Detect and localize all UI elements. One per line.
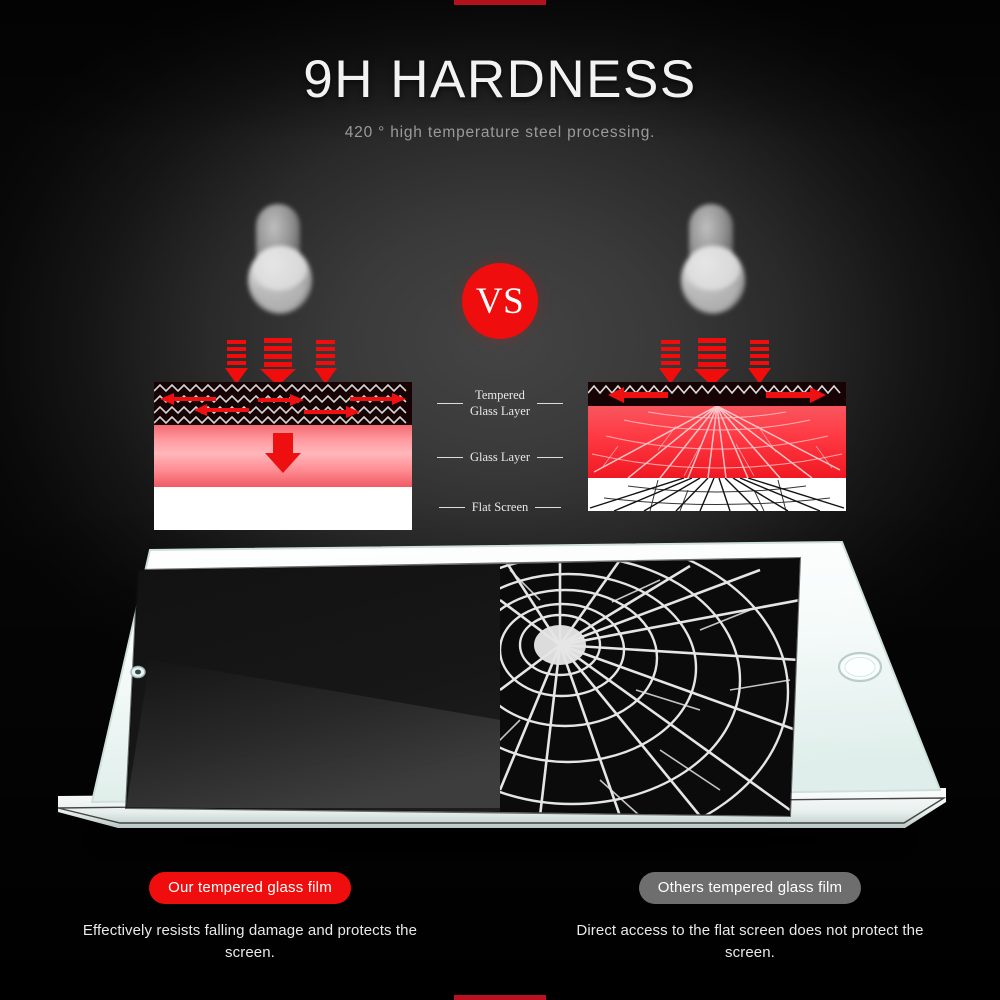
- impact-arrows-right: [638, 338, 798, 386]
- glass-layer-others: [588, 406, 846, 478]
- caption-ours: Our tempered glass film Effectively resi…: [0, 872, 500, 964]
- glass-layer-ours: [154, 425, 412, 487]
- tablet-illustration: [0, 540, 1000, 860]
- leader-line-right: [535, 507, 561, 508]
- legend-tempered-line2: Glass Layer: [470, 404, 530, 418]
- bottom-accent-strip: [454, 995, 546, 1000]
- flat-screen-layer-ours: [154, 487, 412, 530]
- down-arrow-icon: [260, 338, 296, 386]
- legend-flat-screen-label: Flat Screen: [472, 500, 529, 516]
- down-arrow-icon: [659, 340, 682, 384]
- bottom-captions: Our tempered glass film Effectively resi…: [0, 872, 1000, 964]
- page-subtitle: 420 ° high temperature steel processing.: [0, 124, 1000, 142]
- header: 9H HARDNESS 420 ° high temperature steel…: [0, 52, 1000, 142]
- legend-glass-label: Glass Layer: [470, 450, 530, 466]
- vs-badge: VS: [462, 263, 538, 339]
- legend-tempered-glass-layer: Tempered Glass Layer: [415, 388, 585, 419]
- leader-line-left: [437, 403, 463, 404]
- legend-tempered-line1: Tempered: [475, 388, 525, 402]
- others-badge: Others tempered glass film: [639, 872, 861, 904]
- others-glass-cross-section: [588, 382, 846, 530]
- tablet-device: [0, 540, 1000, 860]
- home-button-icon: [839, 653, 881, 681]
- down-arrow-icon: [225, 340, 248, 384]
- infographic-stage: 9H HARDNESS 420 ° high temperature steel…: [0, 0, 1000, 1000]
- down-arrow-icon: [694, 338, 730, 386]
- crack-pattern-icon: [588, 406, 846, 478]
- leader-line-left: [439, 507, 465, 508]
- page-title: 9H HARDNESS: [0, 52, 1000, 108]
- caption-others: Others tempered glass film Direct access…: [500, 872, 1000, 964]
- legend-glass-layer: Glass Layer: [415, 450, 585, 466]
- tempered-glass-layer-others: [588, 382, 846, 406]
- down-arrow-icon: [154, 425, 412, 487]
- impact-arrows-left: [204, 338, 364, 386]
- camera-dot-icon: [131, 667, 145, 678]
- ours-badge: Our tempered glass film: [149, 872, 351, 904]
- fingertip-press-icon-right: [665, 196, 765, 336]
- flat-screen-layer-others: [588, 478, 846, 511]
- others-caption-text: Direct access to the flat screen does no…: [500, 920, 1000, 964]
- tempered-glass-layer-ours: [154, 382, 412, 425]
- leader-line-left: [437, 457, 463, 458]
- our-glass-cross-section: [154, 382, 412, 530]
- fingertip-press-icon-left: [232, 196, 332, 336]
- legend-flat-screen: Flat Screen: [415, 500, 585, 516]
- ours-caption-text: Effectively resists falling damage and p…: [0, 920, 500, 964]
- vs-badge-label: VS: [476, 280, 524, 323]
- top-accent-strip: [454, 0, 546, 5]
- down-arrow-icon: [314, 340, 337, 384]
- leader-line-right: [537, 457, 563, 458]
- leader-line-right: [537, 403, 563, 404]
- crack-pattern-icon: [588, 478, 846, 511]
- down-arrow-icon: [748, 340, 771, 384]
